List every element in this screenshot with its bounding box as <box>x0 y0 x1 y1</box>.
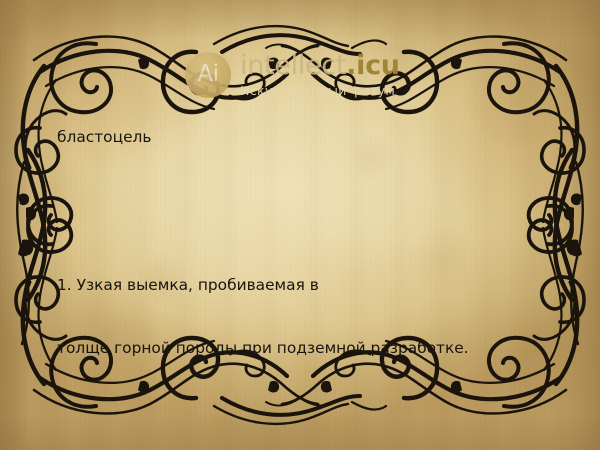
definition-line: 1. Узкая выемка, пробиваемая в <box>57 275 553 296</box>
parchment-page: Ai intellect.icu Искусственный разум бла… <box>0 0 600 450</box>
dictionary-article: бластоцель 1. Узкая выемка, пробиваемая … <box>57 64 553 450</box>
article-term: бластоцель <box>57 127 553 148</box>
definition-1: 1. Узкая выемка, пробиваемая в толще гор… <box>57 233 553 401</box>
definition-line: толще горной породы при подземной разраб… <box>57 338 553 359</box>
